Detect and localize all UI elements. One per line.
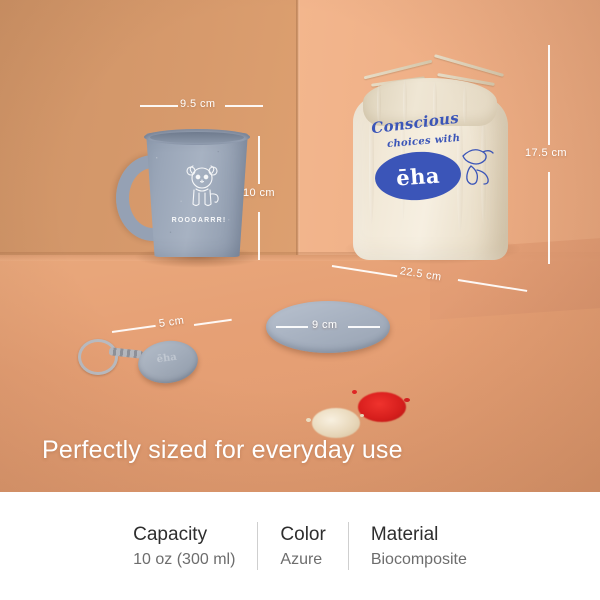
dim-line-mug-height-top	[258, 136, 260, 184]
spec-capacity-title: Capacity	[133, 524, 235, 546]
spec-color: Color Azure	[258, 524, 347, 569]
spec-material-value: Biocomposite	[371, 551, 467, 569]
dim-line-mug-width-left	[140, 105, 178, 107]
spec-color-value: Azure	[280, 551, 325, 569]
dim-line-coaster-left	[276, 326, 308, 328]
spec-color-title: Color	[280, 524, 325, 546]
dim-line-pouch-height-bottom	[548, 172, 550, 264]
dim-line-coaster-right	[348, 326, 380, 328]
headline-text: Perfectly sized for everyday use	[42, 436, 403, 465]
dim-line-pouch-height-top	[548, 45, 550, 145]
dim-label-coaster: 9 cm	[312, 319, 337, 331]
spec-material-title: Material	[371, 524, 467, 546]
product-dimension-infographic: ROOOARRR! Conscious choice	[0, 0, 600, 600]
dim-line-mug-width-right	[225, 105, 263, 107]
spec-material: Material Biocomposite	[349, 524, 489, 569]
spec-capacity: Capacity 10 oz (300 ml)	[111, 524, 257, 569]
dim-label-mug-width: 9.5 cm	[180, 98, 215, 110]
dim-label-pouch-height: 17.5 cm	[525, 147, 567, 159]
spec-bar: Capacity 10 oz (300 ml) Color Azure Mate…	[0, 492, 600, 600]
dim-line-mug-height-bottom	[258, 212, 260, 260]
photo-vignette	[0, 0, 600, 492]
product-photo: ROOOARRR! Conscious choice	[0, 0, 600, 492]
spec-capacity-value: 10 oz (300 ml)	[133, 551, 235, 569]
dim-label-mug-height: 10 cm	[243, 187, 275, 199]
